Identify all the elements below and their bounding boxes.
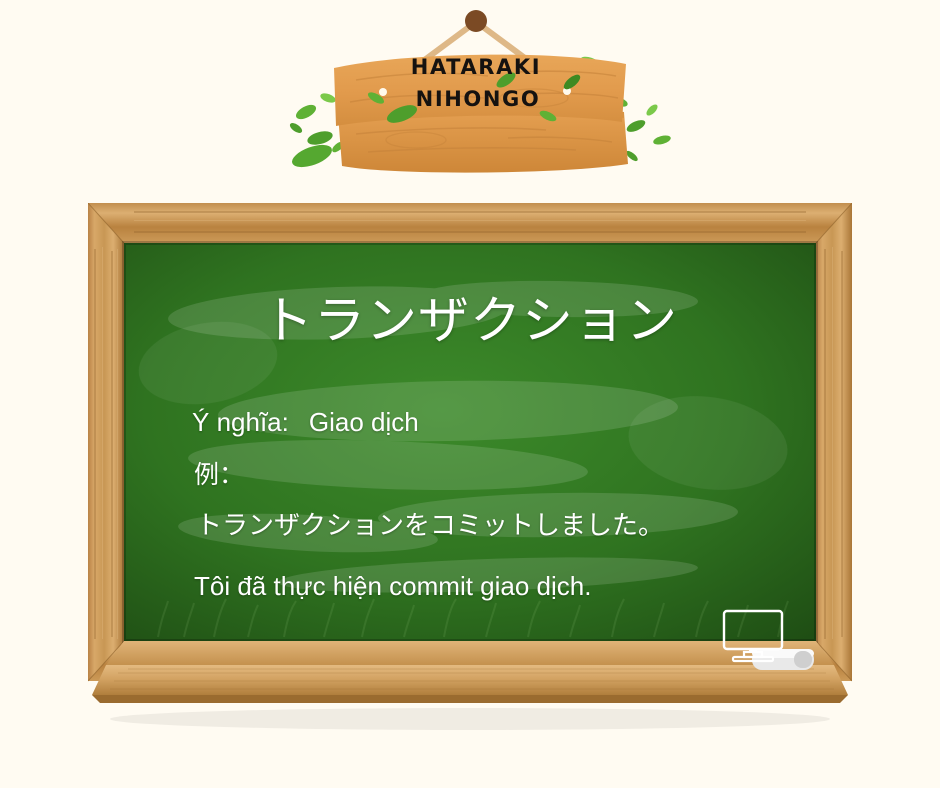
hanging-sign: HATARAKI NIHONGO (276, 6, 676, 186)
frame-left-rail (88, 203, 124, 681)
hanging-sign-graphic: HATARAKI NIHONGO (276, 6, 676, 186)
chalkboard: トランザクション Ý nghĩa:Giao dịch 例： トランザクションをコ… (88, 203, 852, 733)
chalkboard-graphic (88, 203, 852, 733)
sign-line2: NIHONGO (416, 87, 541, 111)
sign-line1: HATARAKI (411, 55, 541, 79)
chalk-stick[interactable] (752, 649, 814, 670)
chalk-ledge-edge (92, 695, 848, 703)
frame-top-rail (88, 203, 852, 243)
frame-right-rail (816, 203, 852, 681)
slide-canvas: HATARAKI NIHONGO (0, 0, 940, 788)
chalk-ledge-top (106, 641, 834, 665)
sign-nail-icon (465, 10, 487, 32)
sign-nail-hole-left (379, 88, 387, 96)
